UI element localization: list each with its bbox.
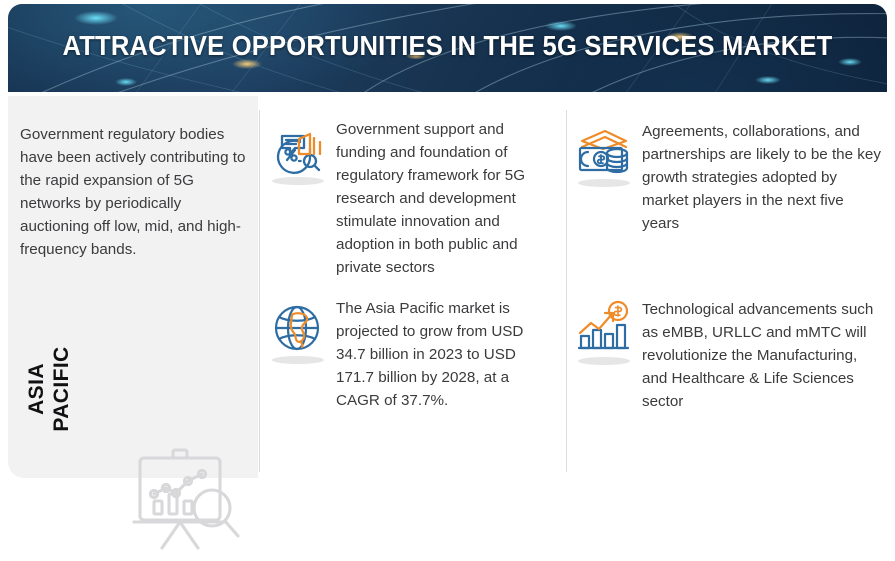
market-research-percent-icon — [266, 118, 328, 180]
icon-shadow — [578, 357, 630, 365]
left-summary-panel: Government regulatory bodies have been a… — [8, 96, 258, 478]
icon-shadow — [272, 177, 324, 185]
money-cash-coins-icon — [572, 120, 634, 182]
item-text: Agreements, collaborations, and partners… — [642, 120, 882, 235]
item-text: Government support and funding and found… — [336, 118, 548, 279]
region-label: ASIA PACIFIC — [24, 329, 74, 449]
left-panel-paragraph: Government regulatory bodies have been a… — [20, 123, 248, 261]
presentation-board-analytics-icon — [132, 444, 248, 556]
column-divider-right — [566, 110, 567, 472]
item-text: Technological advancements such as eMBB,… — [642, 298, 884, 413]
growth-chart-dollar-icon — [572, 298, 634, 360]
icon-shadow — [578, 179, 630, 187]
region-label-line2: PACIFIC — [50, 346, 73, 431]
infographic-page: ATTRACTIVE OPPORTUNITIES IN THE 5G SERVI… — [0, 0, 895, 492]
page-title: ATTRACTIVE OPPORTUNITIES IN THE 5G SERVI… — [39, 30, 856, 62]
icon-shadow — [272, 356, 324, 364]
item-asia-pacific-forecast: The Asia Pacific market is projected to … — [266, 297, 548, 412]
globe-icon — [266, 297, 328, 359]
item-partnerships: Agreements, collaborations, and partners… — [572, 120, 882, 235]
item-government-support: Government support and funding and found… — [266, 118, 548, 279]
item-technology-advancements: Technological advancements such as eMBB,… — [572, 298, 884, 413]
column-divider-left — [259, 110, 260, 472]
item-text: The Asia Pacific market is projected to … — [336, 297, 548, 412]
region-label-line1: ASIA — [25, 363, 48, 415]
header-banner: ATTRACTIVE OPPORTUNITIES IN THE 5G SERVI… — [8, 4, 887, 92]
